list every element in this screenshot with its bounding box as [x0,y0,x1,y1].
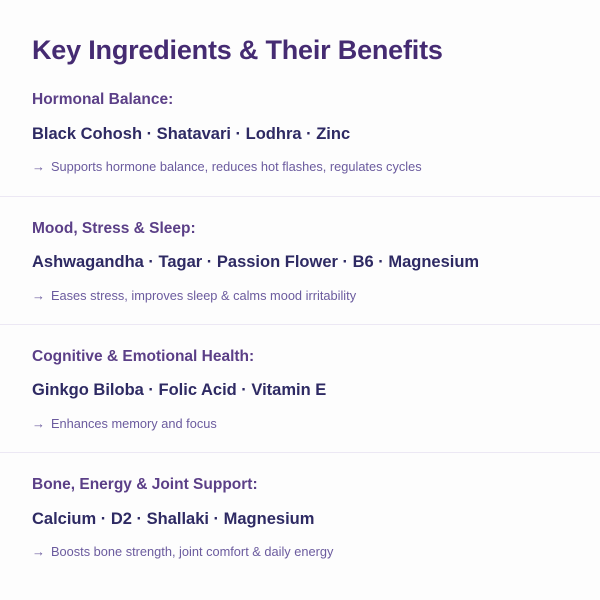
section-benefit-text: Enhances memory and focus [51,415,217,432]
section-benefit-text: Eases stress, improves sleep & calms moo… [51,287,356,304]
section-heading: Bone, Energy & Joint Support: [32,475,568,494]
arrow-right-icon: → [32,158,45,176]
arrow-right-icon: → [32,287,45,305]
section-benefit-text: Boosts bone strength, joint comfort & da… [51,543,333,560]
section-ingredients: Calcium · D2 · Shallaki · Magnesium [32,509,568,530]
section-ingredients: Black Cohosh · Shatavari · Lodhra · Zinc [32,124,568,145]
section-benefit: → Supports hormone balance, reduces hot … [32,158,568,176]
ingredient-section-cognitive-emotional-health: Cognitive & Emotional Health: Ginkgo Bil… [0,325,600,452]
arrow-right-icon: → [32,543,45,561]
section-benefit: → Eases stress, improves sleep & calms m… [32,287,568,305]
section-ingredients: Ashwagandha · Tagar · Passion Flower · B… [32,252,568,273]
section-benefit-text: Supports hormone balance, reduces hot fl… [51,158,422,175]
ingredient-section-bone-energy-joint-support: Bone, Energy & Joint Support: Calcium · … [0,453,600,580]
section-ingredients: Ginkgo Biloba · Folic Acid · Vitamin E [32,380,568,401]
arrow-right-icon: → [32,415,45,433]
ingredient-sections-list: Hormonal Balance: Black Cohosh · Shatava… [0,66,600,580]
section-benefit: → Enhances memory and focus [32,415,568,433]
section-heading: Mood, Stress & Sleep: [32,219,568,238]
ingredients-info-card: Key Ingredients & Their Benefits Hormona… [0,0,600,600]
ingredient-section-mood-stress-sleep: Mood, Stress & Sleep: Ashwagandha · Taga… [0,197,600,324]
section-heading: Hormonal Balance: [32,90,568,109]
section-heading: Cognitive & Emotional Health: [32,347,568,366]
section-benefit: → Boosts bone strength, joint comfort & … [32,543,568,561]
page-title: Key Ingredients & Their Benefits [0,0,600,66]
ingredient-section-hormonal-balance: Hormonal Balance: Black Cohosh · Shatava… [0,66,600,195]
